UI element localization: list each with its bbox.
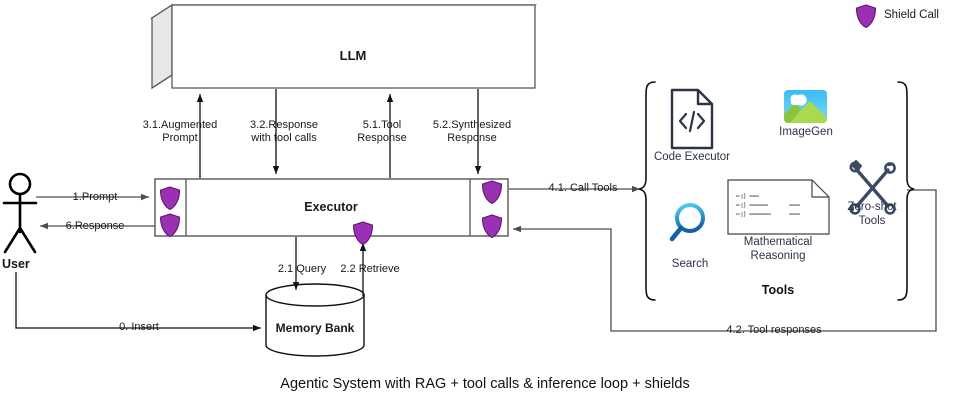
tool-label-line2: Tools [847,214,896,228]
edge-label-insert: 0. Insert [119,321,159,334]
edge-label-augmented-prompt: 3.1.Augmented Prompt [143,119,218,145]
tool-label-line1: Mathematical [744,235,812,249]
edge-label-response: 6.Response [66,220,125,233]
executor-label: Executor [304,201,358,214]
edge-label-line2: Response [357,132,407,145]
diagram-caption: Agentic System with RAG + tool calls & i… [280,376,689,392]
edge-label-line2: Response [433,132,511,145]
tool-label-imagegen: ImageGen [779,125,833,139]
edge-label-tool-response: 5.1.Tool Response [357,119,407,145]
edge-label-line1: 5.1.Tool [357,119,407,132]
edge-label-line1: 3.1.Augmented [143,119,218,132]
tool-label-line1: Zero-shot [847,200,896,214]
edge-label-retrieve: 2.2 Retrieve [340,263,399,276]
image-icon[interactable] [784,90,827,123]
memory-bank-label: Memory Bank [276,322,355,335]
llm-label: LLM [340,49,367,62]
edge-label-call-tools: 4.1. Call Tools [549,182,618,195]
tools-group-label: Tools [762,283,794,297]
magnifier-icon[interactable] [672,205,703,239]
diagram-svg [0,0,970,411]
edge-label-response-tool-calls: 3.2.Response with tool calls [250,119,318,145]
edge-label-tool-responses: 4.2. Tool responses [726,324,821,337]
shield-icon-legend [857,5,876,28]
edge-label-prompt: 1.Prompt [73,191,118,204]
tool-label-zero-shot: Zero-shot Tools [847,200,896,228]
legend-label: Shield Call [884,9,939,22]
tools-left-brace [639,82,655,300]
math-document-icon[interactable] [728,180,829,234]
shield-icon-executor-memory [354,222,373,245]
tool-label-search: Search [672,257,708,271]
user-node[interactable] [4,174,36,252]
edge-label-synthesized-response: 5.2.Synthesized Response [433,119,511,145]
tool-label-code-executor: Code Executor [654,150,730,164]
edge-label-line2: Prompt [143,132,218,145]
edge-label-query: 2.1 Query [278,263,326,276]
llm-node[interactable] [152,5,535,88]
user-label: User [2,258,30,271]
code-document-icon[interactable] [672,90,712,148]
tool-label-line2: Reasoning [744,249,812,263]
tools-right-brace [898,82,914,300]
edge-label-line1: 5.2.Synthesized [433,119,511,132]
edge-insert [16,272,261,328]
tool-label-math-reasoning: Mathematical Reasoning [744,235,812,263]
edge-label-line1: 3.2.Response [250,119,318,132]
memory-bank-node[interactable] [266,284,364,356]
edge-label-line2: with tool calls [250,132,318,145]
diagram-canvas: LLM Executor Memory Bank User 1.Prompt 6… [0,0,970,411]
